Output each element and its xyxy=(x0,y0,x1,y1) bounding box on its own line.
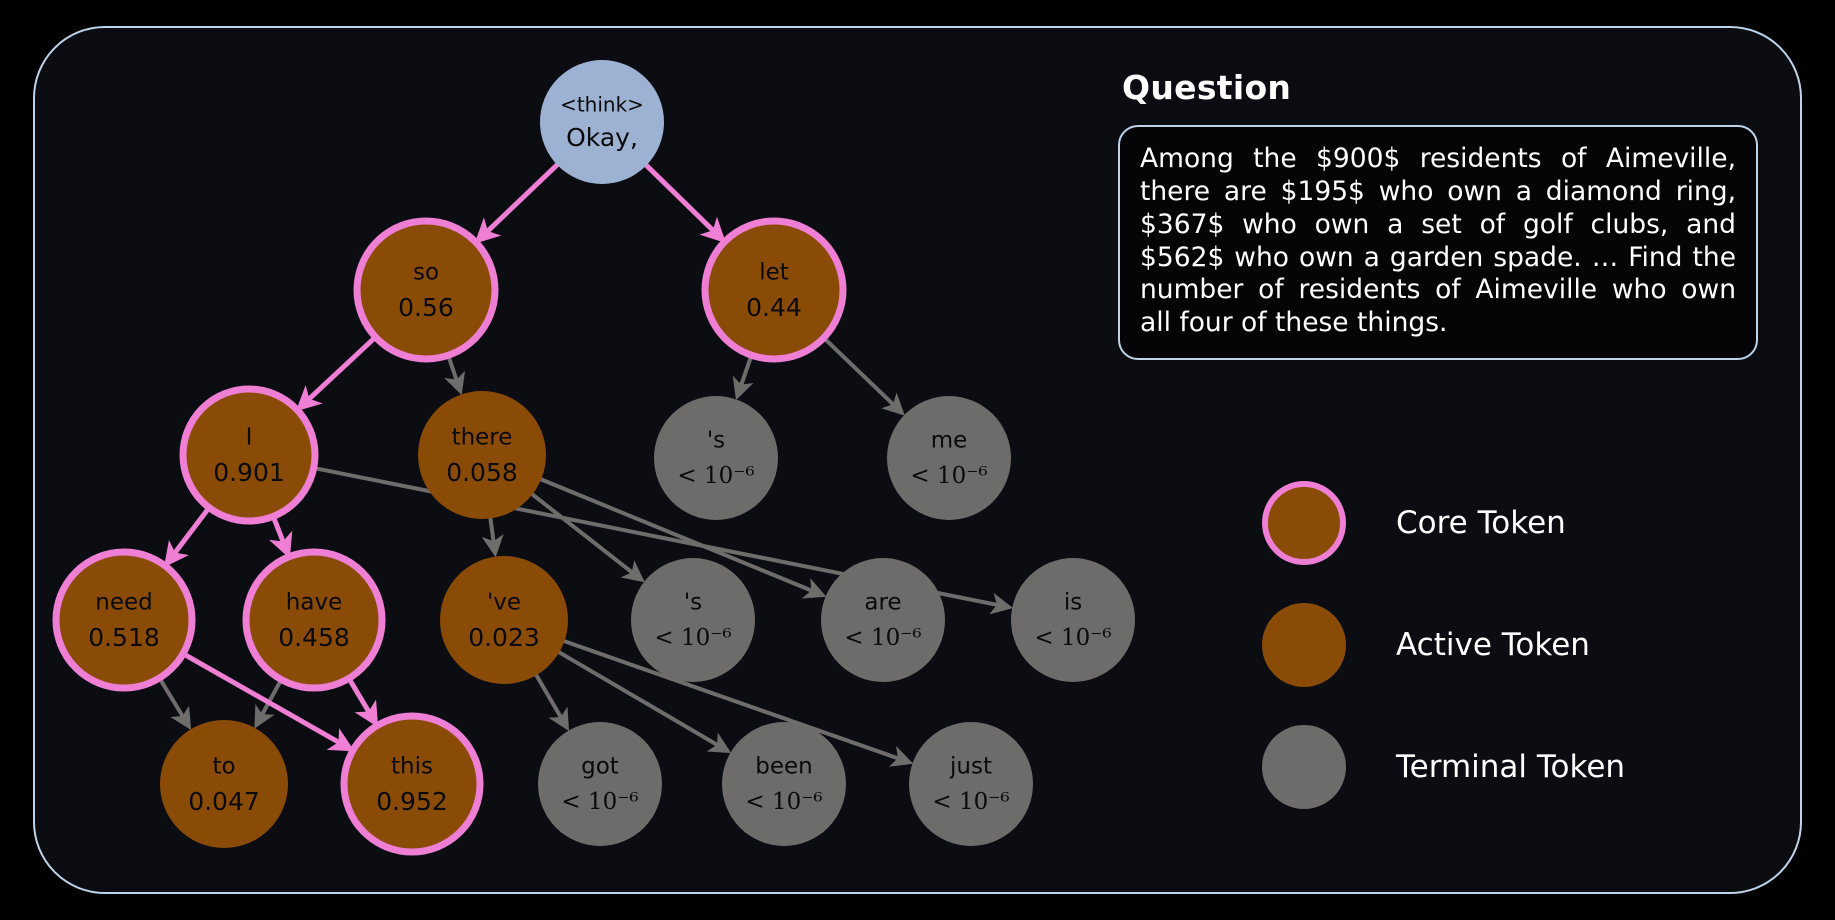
node-circle xyxy=(654,396,778,520)
node-value-label: < 10⁻⁶ xyxy=(677,463,754,489)
tree-node-this[interactable]: this0.952 xyxy=(344,716,480,852)
node-value-label: 0.058 xyxy=(446,458,518,487)
node-value-label: < 10⁻⁶ xyxy=(910,463,987,489)
tree-edge xyxy=(738,353,752,393)
node-circle xyxy=(344,716,480,852)
node-value-label: < 10⁻⁶ xyxy=(844,625,921,651)
node-value-label: < 10⁻⁶ xyxy=(932,789,1009,815)
tree-edge xyxy=(302,336,377,406)
node-value-label: 0.023 xyxy=(468,623,540,652)
node-circle xyxy=(722,722,846,846)
node-circle xyxy=(440,556,568,684)
tree-node-just[interactable]: just< 10⁻⁶ xyxy=(909,722,1033,846)
legend: Core Token Active Token Terminal Token xyxy=(1262,462,1742,828)
tree-node-ve[interactable]: 've0.023 xyxy=(440,556,568,684)
node-value-label: Okay, xyxy=(566,123,638,152)
tree-node-are[interactable]: are< 10⁻⁶ xyxy=(821,558,945,682)
node-value-label: < 10⁻⁶ xyxy=(654,625,731,651)
terminal-token-swatch-icon xyxy=(1262,725,1346,809)
tree-edge xyxy=(272,515,286,552)
node-value-label: < 10⁻⁶ xyxy=(745,789,822,815)
core-token-swatch-icon xyxy=(1262,481,1346,565)
legend-label-core: Core Token xyxy=(1396,505,1566,541)
node-token-label: to xyxy=(212,754,235,780)
node-circle xyxy=(183,389,315,521)
screenshot-root: <think>Okay,so0.56let0.44I0.901there0.05… xyxy=(0,0,1835,920)
node-circle xyxy=(631,558,755,682)
tree-edge xyxy=(645,164,720,238)
tree-node-to[interactable]: to0.047 xyxy=(160,720,288,848)
node-circle xyxy=(538,722,662,846)
node-token-label: are xyxy=(864,590,901,616)
node-token-label: there xyxy=(452,425,513,451)
tree-nodes: <think>Okay,so0.56let0.44I0.901there0.05… xyxy=(56,60,1135,852)
tree-edge xyxy=(448,353,460,388)
node-circle xyxy=(1011,558,1135,682)
node-value-label: 0.56 xyxy=(398,293,454,322)
node-token-label: so xyxy=(413,260,439,286)
node-value-label: 0.952 xyxy=(376,787,448,816)
node-circle xyxy=(56,552,192,688)
node-token-label: let xyxy=(759,260,789,286)
node-circle xyxy=(909,722,1033,846)
node-token-label: just xyxy=(949,754,992,780)
tree-node-me[interactable]: me< 10⁻⁶ xyxy=(887,396,1011,520)
node-token-label: have xyxy=(286,590,342,616)
node-token-label: need xyxy=(95,590,152,616)
node-token-label: me xyxy=(931,428,968,454)
node-token-label: 's xyxy=(684,590,702,616)
node-value-label: 0.047 xyxy=(188,787,260,816)
node-circle xyxy=(418,391,546,519)
tree-edge xyxy=(822,336,900,411)
node-token-label: been xyxy=(755,754,812,780)
legend-item-active: Active Token xyxy=(1262,584,1742,706)
tree-edge xyxy=(348,677,374,721)
node-circle xyxy=(160,720,288,848)
tree-node-have[interactable]: have0.458 xyxy=(246,552,382,688)
node-value-label: 0.518 xyxy=(88,623,160,652)
node-value-label: 0.458 xyxy=(278,623,350,652)
node-value-label: 0.44 xyxy=(746,293,802,322)
tree-node-there[interactable]: there0.058 xyxy=(418,391,546,519)
node-circle xyxy=(821,558,945,682)
tree-node-so[interactable]: so0.56 xyxy=(357,221,495,359)
node-circle xyxy=(705,221,843,359)
node-token-label: 's xyxy=(707,428,725,454)
node-token-label: <think> xyxy=(560,93,644,117)
tree-edge xyxy=(169,506,211,561)
node-circle xyxy=(887,396,1011,520)
tree-edge xyxy=(158,676,187,724)
node-token-label: I xyxy=(246,425,253,451)
tree-node-is[interactable]: is< 10⁻⁶ xyxy=(1011,558,1135,682)
node-token-label: 've xyxy=(487,590,521,616)
tree-node-need[interactable]: need0.518 xyxy=(56,552,192,688)
tree-edge xyxy=(480,163,558,238)
question-block: Question Among the $900$ residents of Ai… xyxy=(1118,68,1758,360)
tree-node-been[interactable]: been< 10⁻⁶ xyxy=(722,722,846,846)
node-circle xyxy=(540,60,664,184)
tree-edge xyxy=(531,493,640,578)
node-value-label: < 10⁻⁶ xyxy=(561,789,638,815)
tree-node-let[interactable]: let0.44 xyxy=(705,221,843,359)
legend-label-terminal: Terminal Token xyxy=(1396,749,1625,785)
legend-item-core: Core Token xyxy=(1262,462,1742,584)
node-circle xyxy=(246,552,382,688)
legend-label-active: Active Token xyxy=(1396,627,1590,663)
tree-edge xyxy=(490,516,495,550)
tree-edge xyxy=(535,674,565,726)
node-value-label: 0.901 xyxy=(213,458,285,487)
tree-node-s2[interactable]: 's< 10⁻⁶ xyxy=(631,558,755,682)
node-circle xyxy=(357,221,495,359)
node-token-label: this xyxy=(391,754,433,780)
tree-node-root[interactable]: <think>Okay, xyxy=(540,60,664,184)
question-text-box: Among the $900$ residents of Aimeville, … xyxy=(1118,125,1758,360)
question-title: Question xyxy=(1122,68,1758,107)
legend-item-terminal: Terminal Token xyxy=(1262,706,1742,828)
node-token-label: got xyxy=(581,754,619,780)
tree-node-s1[interactable]: 's< 10⁻⁶ xyxy=(654,396,778,520)
tree-node-I[interactable]: I0.901 xyxy=(183,389,315,521)
tree-node-got[interactable]: got< 10⁻⁶ xyxy=(538,722,662,846)
active-token-swatch-icon xyxy=(1262,603,1346,687)
node-value-label: < 10⁻⁶ xyxy=(1034,625,1111,651)
node-token-label: is xyxy=(1064,590,1082,616)
